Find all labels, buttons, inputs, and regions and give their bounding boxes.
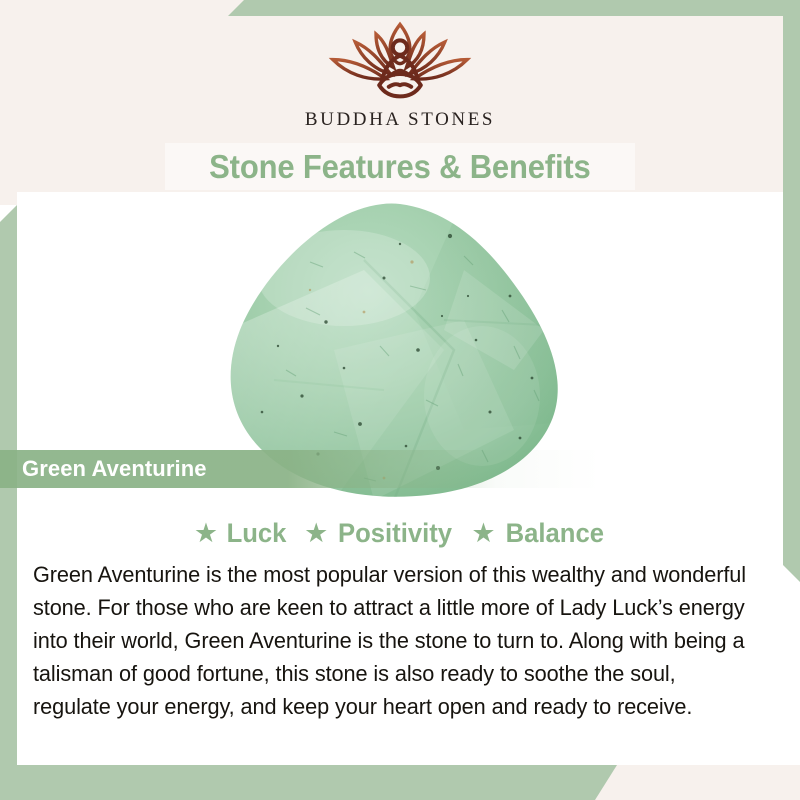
stone-features-poster: BUDDHA STONES Stone Features & Benefits [0, 0, 800, 800]
stone-name: Green Aventurine [22, 456, 207, 482]
stone-name-bar: Green Aventurine [0, 450, 800, 488]
brand-logo: BUDDHA STONES [0, 18, 800, 131]
star-icon: ★ [304, 520, 328, 547]
brand-wordmark: BUDDHA STONES [305, 109, 495, 131]
benefit-label: Balance [505, 518, 603, 549]
page-title: Stone Features & Benefits [209, 148, 590, 186]
benefits-row: ★ Luck ★ Positivity ★ Balance [0, 518, 800, 549]
benefit-item-luck: ★ Luck [194, 518, 288, 549]
accent-bar-left [0, 205, 17, 780]
accent-bar-top [228, 0, 800, 16]
benefit-item-positivity: ★ Positivity [304, 518, 455, 549]
benefit-item-balance: ★ Balance [471, 518, 606, 549]
benefit-label: Luck [227, 518, 287, 549]
lotus-meditation-icon [320, 18, 480, 106]
star-icon: ★ [471, 520, 495, 547]
page-title-panel: Stone Features & Benefits [165, 143, 635, 190]
accent-bar-bottom [0, 765, 617, 800]
benefit-label: Positivity [338, 518, 452, 549]
star-icon: ★ [194, 520, 218, 547]
stone-description: Green Aventurine is the most popular ver… [33, 558, 747, 723]
